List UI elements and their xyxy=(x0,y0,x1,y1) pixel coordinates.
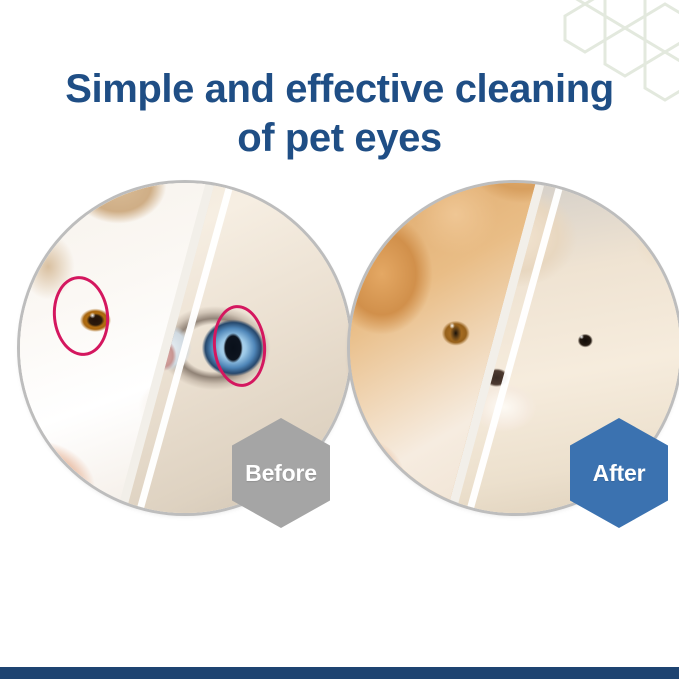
page-title: Simple and effective cleaning of pet eye… xyxy=(0,65,679,163)
footer-bar xyxy=(0,667,679,679)
page-title-line-2: of pet eyes xyxy=(0,114,679,163)
before-badge-label: Before xyxy=(245,460,317,487)
after-badge-label: After xyxy=(593,460,646,487)
page-title-line-1: Simple and effective cleaning xyxy=(0,65,679,114)
